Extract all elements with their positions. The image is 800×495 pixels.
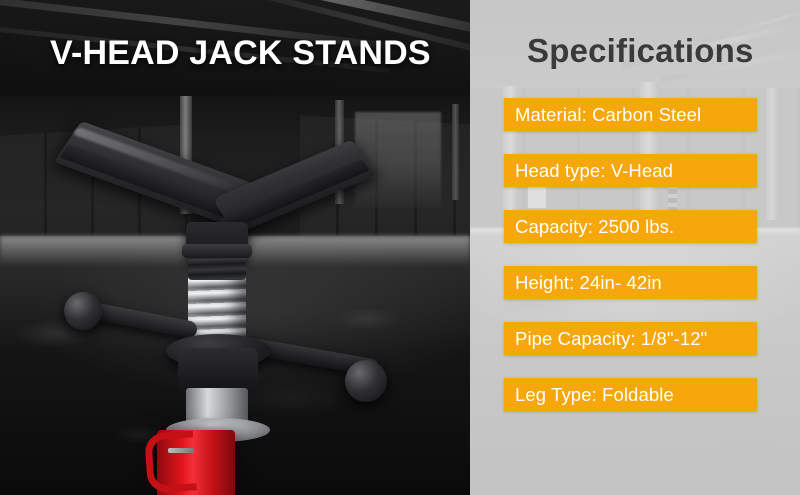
handle-knob-left — [64, 292, 102, 330]
spec-row-text: Capacity: 2500 lbs. — [504, 216, 674, 238]
specifications-heading: Specifications — [527, 32, 754, 70]
specifications-panel: Specifications Material: Carbon Steel He… — [470, 0, 800, 495]
locking-pin — [168, 448, 194, 453]
specifications-list: Material: Carbon Steel Head type: V-Head… — [504, 98, 757, 434]
spec-row-head-type: Head type: V-Head — [504, 154, 757, 187]
product-photo-panel: V-HEAD JACK STANDS — [0, 0, 470, 495]
spec-row-text: Pipe Capacity: 1/8"-12" — [504, 328, 707, 350]
banner-title: V-HEAD JACK STANDS — [50, 34, 431, 73]
spec-row-height: Height: 24in- 42in — [504, 266, 757, 299]
spec-row-pipe-capacity: Pipe Capacity: 1/8"-12" — [504, 322, 757, 355]
jack-stand-product — [0, 0, 470, 495]
spec-row-text: Leg Type: Foldable — [504, 384, 674, 406]
screw-collar — [182, 244, 252, 258]
red-lever — [144, 430, 197, 493]
handle-knob-right — [345, 360, 387, 402]
spec-row-leg-type: Leg Type: Foldable — [504, 378, 757, 411]
product-banner: V-HEAD JACK STANDS Specifications Materi… — [0, 0, 800, 495]
spec-row-material: Material: Carbon Steel — [504, 98, 757, 131]
spec-row-capacity: Capacity: 2500 lbs. — [504, 210, 757, 243]
spec-row-text: Material: Carbon Steel — [504, 104, 701, 126]
spec-row-text: Height: 24in- 42in — [504, 272, 662, 294]
spec-row-text: Head type: V-Head — [504, 160, 673, 182]
